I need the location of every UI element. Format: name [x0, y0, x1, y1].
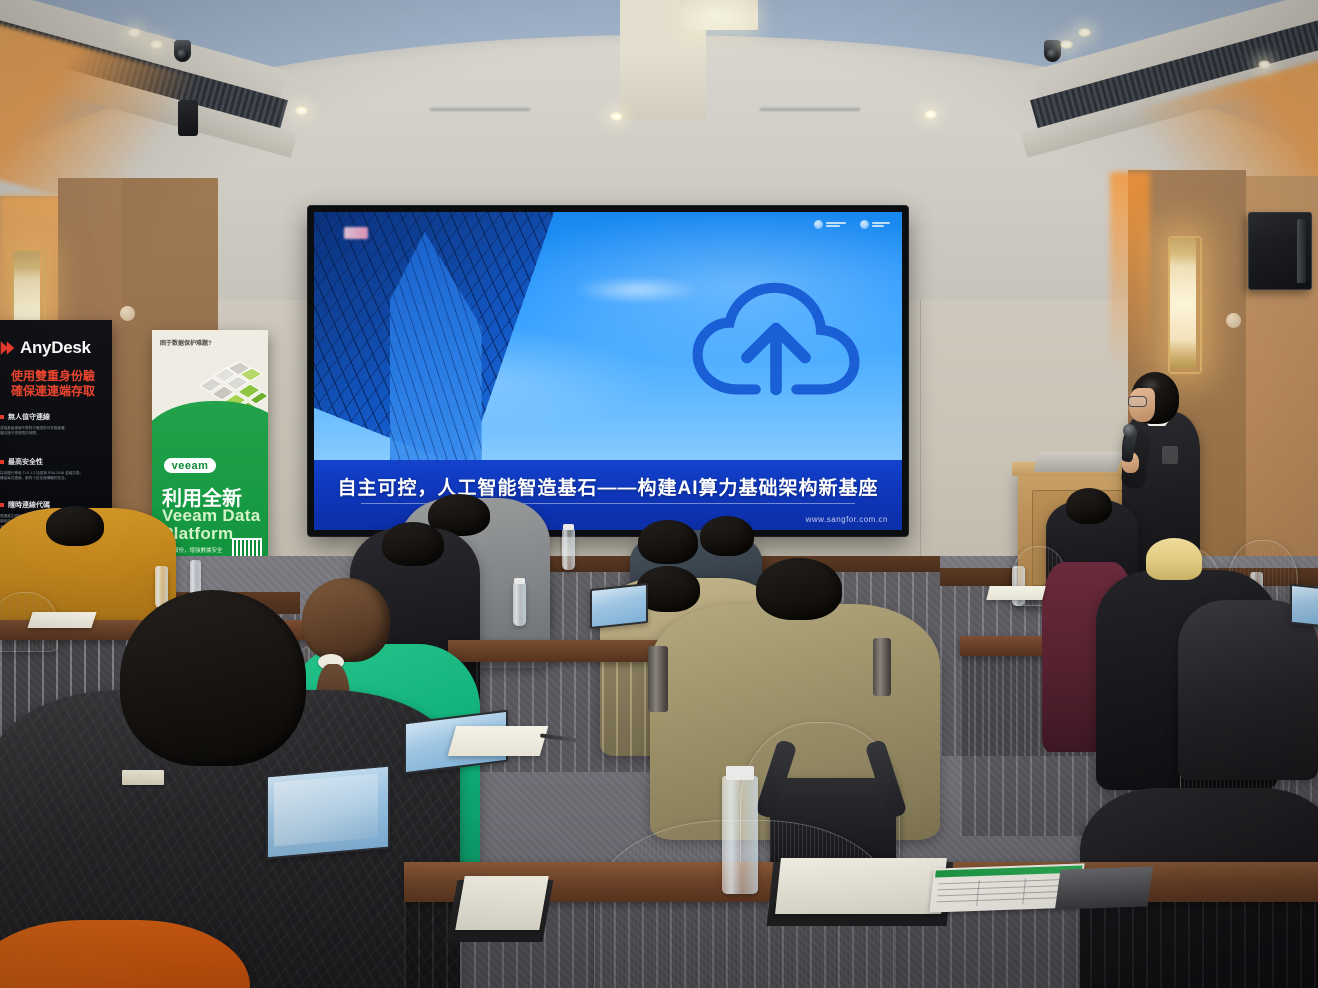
wall-knob-left	[120, 306, 135, 321]
bottle-cap	[563, 524, 574, 530]
person-mustard-head	[46, 506, 104, 546]
downlight	[610, 112, 623, 121]
laptop-right[interactable]	[1290, 584, 1318, 629]
water-bottle-front[interactable]	[722, 776, 758, 894]
wall-mounted-speaker	[1248, 212, 1312, 290]
security-camera-icon	[1044, 40, 1061, 62]
slide-screen: 自主可控，人工智能智造基石——构建AI算力基础架构新基座 www.sangfor…	[314, 212, 902, 530]
conference-room-photo: 自主可控，人工智能智造基石——构建AI算力基础架构新基座 www.sangfor…	[0, 0, 1318, 988]
person-blue-back-head-2	[700, 516, 754, 556]
jacket-back-label	[122, 770, 164, 785]
spotlight	[128, 28, 141, 37]
anydesk-section-2: 最高安全性 採用銀行等級 TLS 1.2 加密與 RSA 2048 金鑰交換， …	[0, 457, 106, 482]
water-bottle[interactable]	[513, 582, 526, 626]
ceiling-strip-shadow	[760, 108, 860, 111]
paper-back-left[interactable]	[27, 612, 96, 628]
partner-logo-2	[860, 220, 890, 229]
tower-reflection	[344, 227, 368, 239]
slide-title: 自主可控，人工智能智造基石——构建AI算力基础架构新基座	[314, 473, 902, 500]
wall-sconce-right	[1170, 238, 1196, 368]
bottle-cap	[514, 578, 525, 584]
spotlight	[150, 40, 163, 49]
spotlight	[1060, 40, 1073, 49]
anydesk-section-title: 最高安全性	[8, 459, 43, 466]
thermos[interactable]	[648, 646, 668, 712]
downlight	[924, 110, 937, 119]
microphone-head-icon	[1123, 424, 1136, 437]
person-right-far	[1178, 600, 1318, 780]
wall-knob-right	[1226, 313, 1241, 328]
cloud-upload-icon	[679, 282, 873, 416]
beanie-hat	[1146, 538, 1202, 580]
veeam-logo: veeam	[164, 458, 216, 473]
slide-url: www.sangfor.com.cn	[806, 515, 888, 524]
anydesk-logo: AnyDesk	[0, 338, 91, 358]
security-camera-icon	[174, 40, 191, 62]
speaker-glasses	[1128, 396, 1147, 407]
notepad-mid[interactable]	[448, 726, 549, 756]
notepad-center[interactable]	[775, 858, 947, 914]
veeam-top-text: 困于数据保护难题?	[160, 338, 212, 347]
presentation-display: 自主可控，人工智能智造基石——构建AI算力基础架构新基座 www.sangfor…	[308, 206, 908, 536]
anydesk-section-1: 無人值守連線 遠端桌面連線不需對方確認即可存取裝置， 讓支援不再受限於時間。	[0, 412, 106, 437]
bottle-cap	[726, 766, 754, 780]
thermos[interactable]	[873, 638, 891, 696]
paper-back-right[interactable]	[986, 586, 1045, 600]
cove-light-wash-right	[1110, 172, 1150, 372]
laptop[interactable]	[590, 583, 648, 629]
podium-laptop-lid	[1034, 452, 1123, 472]
person-front-head	[120, 590, 306, 766]
anydesk-headline-2: 確保連連端存取	[0, 383, 108, 399]
ceiling-strip-shadow	[430, 108, 530, 111]
anydesk-brand: AnyDesk	[20, 338, 91, 358]
speaker-logo-patch	[1162, 446, 1178, 464]
anydesk-mark-icon	[0, 340, 15, 356]
water-bottle[interactable]	[562, 528, 575, 570]
anydesk-section-title: 無人值守連線	[8, 414, 50, 421]
slide-title-band: 自主可控，人工智能智造基石——构建AI算力基础架构新基座 www.sangfor…	[314, 460, 902, 530]
partner-logo-1	[814, 220, 846, 229]
anydesk-section-body: 採用銀行等級 TLS 1.2 加密與 RSA 2048 金鑰交換， 確保每次連線…	[0, 471, 106, 482]
brochure[interactable]	[1055, 866, 1153, 909]
anydesk-section-body: 遠端桌面連線不需對方確認即可存取裝置， 讓支援不再受限於時間。	[0, 426, 106, 437]
person-black-vest-head	[382, 522, 444, 566]
spotlight	[1078, 28, 1091, 37]
spotlight	[1258, 60, 1271, 69]
ceiling-skylight	[680, 0, 758, 30]
notepad[interactable]	[455, 876, 549, 930]
downlight	[295, 106, 308, 115]
person-green-head	[302, 578, 390, 662]
person-olive-head	[756, 558, 842, 620]
person-blue-back-head	[638, 520, 698, 564]
person-right-back-head	[1066, 488, 1112, 524]
laptop-screen-content	[274, 773, 378, 846]
slide-partner-logos	[814, 220, 890, 229]
wall-speaker-left	[178, 100, 198, 136]
anydesk-section-title: 隨時連線代碼	[8, 502, 50, 509]
skyscraper-photo	[314, 212, 584, 460]
veeam-headline-en-1: Veeam Data	[162, 506, 260, 526]
anydesk-headline-1: 使用雙重身份驗	[0, 368, 108, 384]
